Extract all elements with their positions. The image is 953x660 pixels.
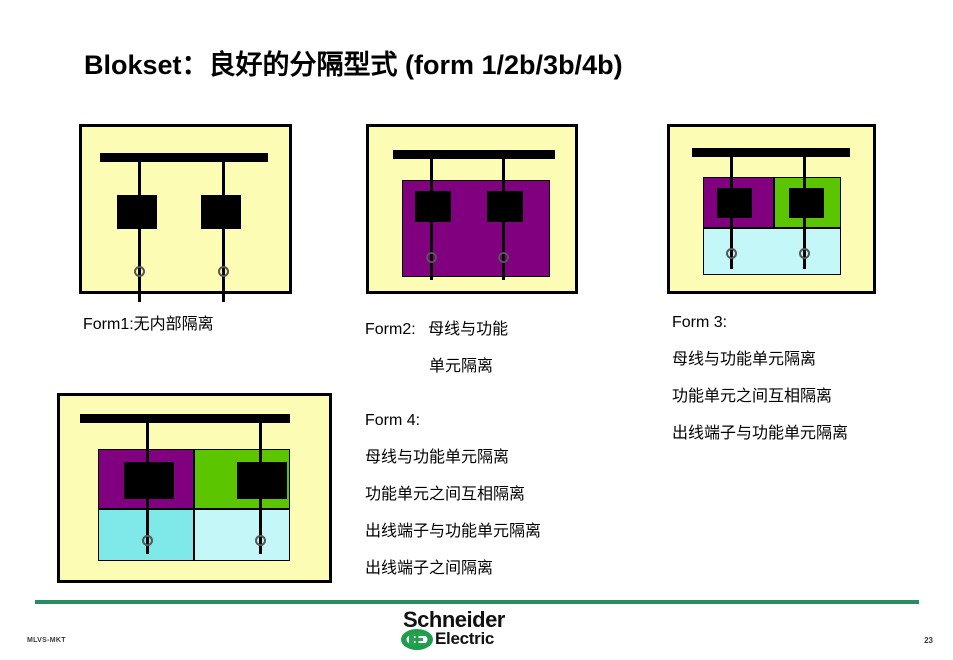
outgoing-terminal-right-form4 [255, 535, 266, 546]
outgoing-terminal-left-form2 [426, 252, 437, 263]
outgoing-terminal-left-form1 [134, 266, 145, 277]
outgoing-terminal-left-form3 [726, 248, 737, 259]
outgoing-terminal-left-form4 [142, 535, 153, 546]
conductor-line-right-form1 [222, 157, 225, 302]
caption-form4-line-4: 出线端子之间隔离 [365, 558, 493, 577]
footer-document-code: MLVS-MKT [27, 637, 66, 644]
logo-text-electric: Electric [435, 629, 494, 649]
caption-form1: Form1:无内部隔离 [83, 310, 214, 334]
page-title: Blokset：良好的分隔型式 (form 1/2b/3b/4b) [84, 43, 623, 82]
outgoing-terminal-right-form3 [799, 248, 810, 259]
slide-canvas: Blokset：良好的分隔型式 (form 1/2b/3b/4b) [0, 0, 953, 660]
functional-unit-left-form1 [117, 195, 157, 229]
functional-unit-right-form2 [487, 191, 523, 222]
caption-form3-line-3: 出线端子与功能单元隔离 [672, 423, 848, 442]
outgoing-terminal-right-form2 [498, 252, 509, 263]
compartment-cyan-bottom-form3 [703, 228, 841, 275]
functional-unit-left-form3 [717, 188, 752, 218]
caption-form4-label: Form 4: [365, 412, 420, 429]
caption-form3-label: Form 3: [672, 314, 727, 331]
compartment-cyan-right-bottom-form4 [194, 509, 290, 561]
caption-form2-label: Form2: [365, 321, 416, 338]
diagram-form1 [79, 124, 292, 294]
conductor-line-left-form1 [138, 157, 141, 302]
caption-form3-line-1: 母线与功能单元隔离 [672, 349, 816, 368]
caption-form2-line-1: 母线与功能 [428, 319, 508, 338]
schneider-electric-logo: Schneider Electric [391, 607, 531, 655]
footer-divider [35, 600, 919, 604]
caption-form4: Form 4: 母线与功能单元隔离 功能单元之间互相隔离 出线端子与功能单元隔离… [365, 412, 541, 578]
caption-form3: Form 3: 母线与功能单元隔离 功能单元之间互相隔离 出线端子与功能单元隔离 [672, 314, 848, 443]
busbar-form3 [692, 148, 850, 157]
functional-unit-right-form1 [201, 195, 241, 229]
functional-unit-left-form2 [415, 191, 451, 222]
caption-form4-line-2: 功能单元之间互相隔离 [365, 484, 525, 503]
diagram-form3 [667, 124, 876, 294]
busbar-form1 [100, 153, 268, 162]
page-number: 23 [924, 636, 933, 645]
diagram-form2 [366, 124, 578, 294]
caption-form2-line-2: 单元隔离 [429, 356, 493, 375]
functional-unit-left-form4 [124, 462, 174, 499]
outgoing-terminal-right-form1 [218, 266, 229, 277]
caption-form1-line-1: 无内部隔离 [134, 314, 214, 333]
functional-unit-right-form4 [237, 462, 287, 499]
diagram-form4 [57, 393, 332, 583]
caption-form2: Form2: 母线与功能 单元隔离 [365, 315, 508, 376]
schneider-swoosh-icon [400, 628, 434, 651]
busbar-form2 [393, 150, 555, 159]
caption-form3-line-2: 功能单元之间互相隔离 [672, 386, 832, 405]
caption-form4-line-3: 出线端子与功能单元隔离 [365, 521, 541, 540]
functional-unit-right-form3 [789, 188, 824, 218]
caption-form4-line-1: 母线与功能单元隔离 [365, 447, 509, 466]
caption-form1-label: Form1: [83, 316, 134, 333]
